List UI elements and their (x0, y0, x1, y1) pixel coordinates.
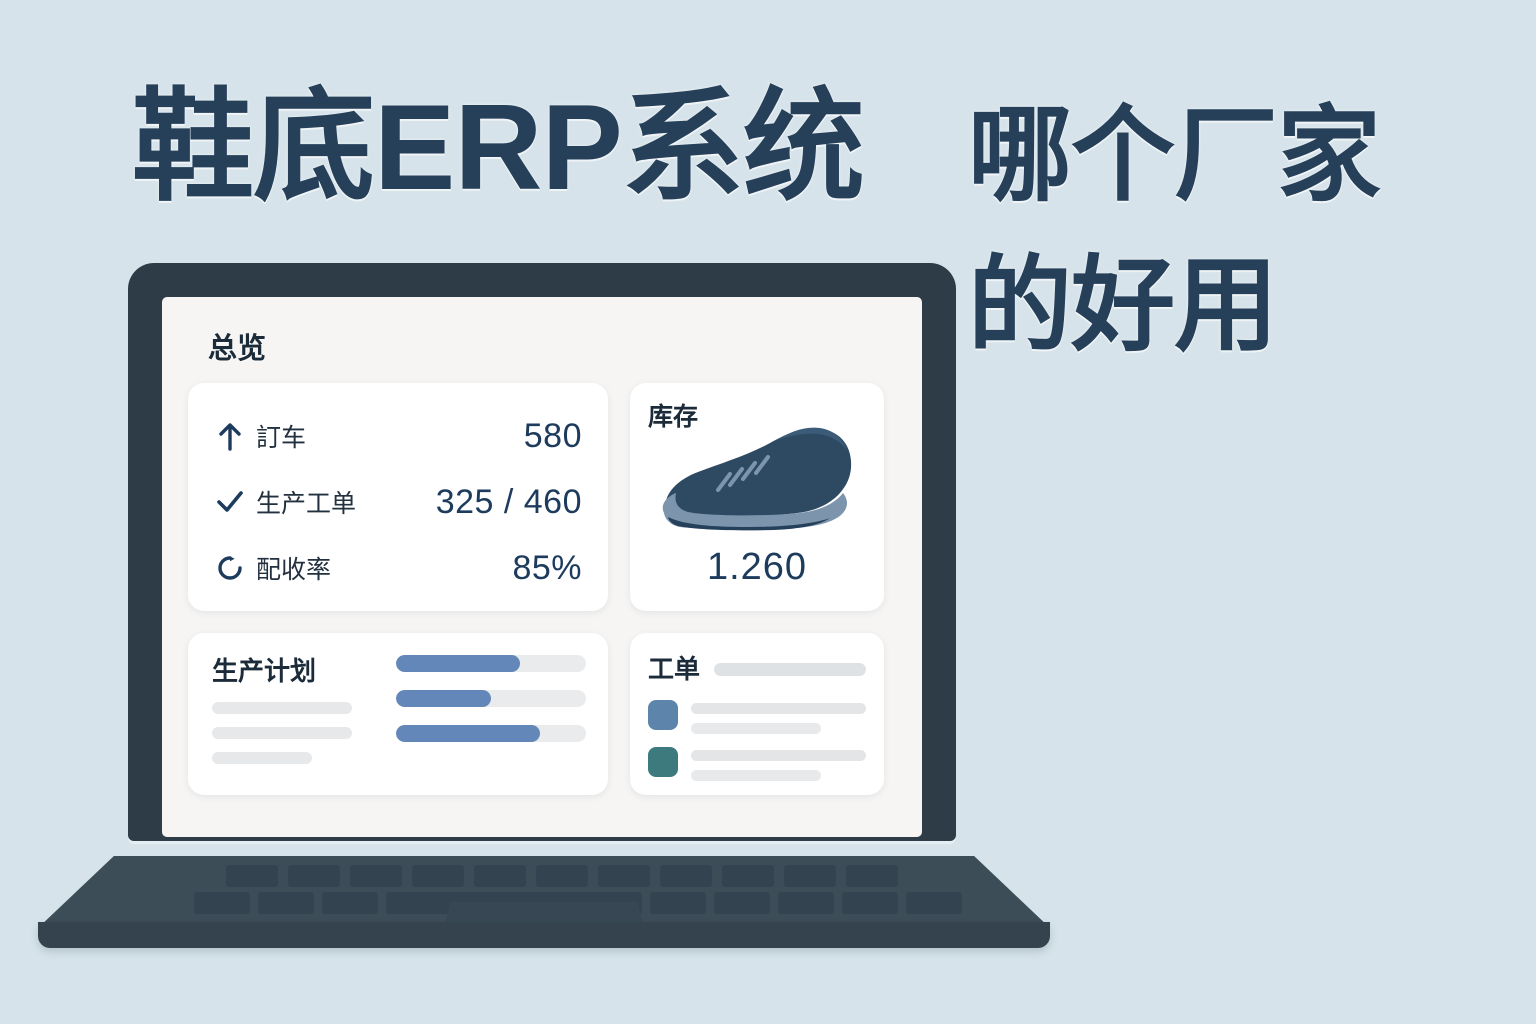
skeleton-line (691, 770, 821, 781)
production-plan-card: 生产计划 (188, 633, 608, 795)
keyboard-key (322, 892, 378, 914)
work-order-header-placeholder (714, 663, 866, 676)
kpi-row-orders[interactable]: 訂车 580 (212, 403, 582, 469)
kpi-value-production: 325 / 460 (436, 483, 582, 522)
inventory-card: 库存 (630, 383, 884, 611)
work-order-card: 工单 (630, 633, 884, 795)
keyboard-key (598, 865, 650, 887)
keyboard-key (842, 892, 898, 914)
laptop-base (38, 856, 1050, 948)
list-item[interactable] (648, 700, 866, 734)
keyboard-key (846, 865, 898, 887)
laptop-base-front (38, 922, 1050, 948)
kpi-value-delivery-rate: 85% (512, 549, 582, 588)
progress-bar-fill (396, 725, 540, 742)
keyboard-deck (38, 856, 1050, 928)
kpi-row-delivery-rate[interactable]: 配收率 85% (212, 535, 582, 601)
work-order-title: 工单 (648, 649, 700, 686)
erp-dashboard: 总览 訂车 580 (162, 297, 922, 837)
keyboard-key (784, 865, 836, 887)
keyboard-key (288, 865, 340, 887)
dress-shoe-icon (644, 417, 870, 535)
list-item-lines (691, 700, 866, 734)
keyboard-key (536, 865, 588, 887)
skeleton-line (691, 750, 866, 761)
overview-heading: 总览 (208, 325, 896, 367)
laptop-illustration: 总览 訂车 580 (0, 0, 1536, 1024)
status-swatch (648, 747, 678, 777)
skeleton-line (212, 752, 312, 764)
kpi-card: 訂车 580 生产工单 325 / 460 (188, 383, 608, 611)
refresh-ring-icon (212, 551, 248, 585)
progress-bar-2[interactable] (396, 690, 586, 707)
keyboard-key (714, 892, 770, 914)
kpi-label-orders: 訂车 (256, 418, 306, 454)
dashboard-row-bottom: 生产计划 (188, 633, 896, 795)
status-swatch (648, 700, 678, 730)
keyboard-key (650, 892, 706, 914)
skeleton-line (212, 727, 352, 739)
keyboard-key (722, 865, 774, 887)
progress-bar-1[interactable] (396, 655, 586, 672)
keyboard-key (778, 892, 834, 914)
progress-bar-fill (396, 655, 520, 672)
list-item[interactable] (648, 747, 866, 781)
poster-canvas: 鞋底ERP系统 哪个厂家 的好用 总览 (0, 0, 1536, 1024)
keyboard-key (906, 892, 962, 914)
kpi-value-orders: 580 (524, 417, 582, 456)
keyboard-key (474, 865, 526, 887)
keyboard-key (194, 892, 250, 914)
arrow-up-icon (212, 419, 248, 453)
laptop-screen: 总览 訂车 580 (162, 297, 922, 837)
keyboard-key (258, 892, 314, 914)
keyboard-key (660, 865, 712, 887)
skeleton-line (691, 703, 866, 714)
work-order-header: 工单 (648, 649, 866, 686)
check-icon (212, 485, 248, 519)
progress-bar-3[interactable] (396, 725, 586, 742)
inventory-value: 1.260 (630, 546, 884, 589)
kpi-label-production: 生产工单 (256, 484, 356, 520)
progress-bar-fill (396, 690, 491, 707)
skeleton-line (212, 702, 352, 714)
keyboard-key (412, 865, 464, 887)
list-item-lines (691, 747, 866, 781)
plan-progress-bars (396, 655, 586, 760)
kpi-row-production[interactable]: 生产工单 325 / 460 (212, 469, 582, 535)
kpi-label-delivery-rate: 配收率 (256, 550, 331, 586)
dashboard-row-top: 訂车 580 生产工单 325 / 460 (188, 383, 896, 611)
skeleton-line (691, 723, 821, 734)
keyboard-key (350, 865, 402, 887)
keyboard-key (226, 865, 278, 887)
